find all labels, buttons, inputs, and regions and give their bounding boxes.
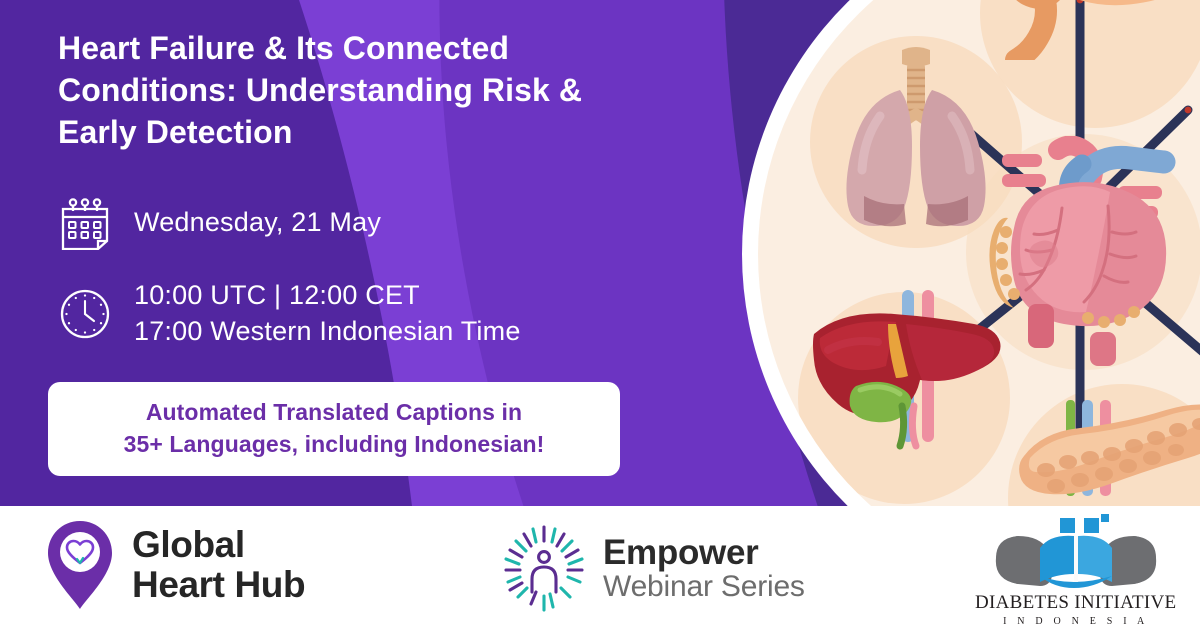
- ghh-line-1: Global: [132, 525, 305, 565]
- ghh-wordmark: Global Heart Hub: [132, 525, 305, 604]
- logo-empower-webinar-series: Empower Webinar Series: [498, 524, 805, 614]
- time-line-2: 17:00 Western Indonesian Time: [134, 314, 521, 350]
- dii-monogram-icon: [988, 512, 1164, 590]
- empower-wordmark: Empower Webinar Series: [603, 535, 805, 604]
- heart-illustration: [966, 136, 1200, 368]
- calendar-icon: [58, 196, 112, 250]
- empower-line-1: Empower: [603, 535, 805, 571]
- dii-line-2: I N D O N E S I A: [1003, 616, 1148, 627]
- pancreas-illustration: [1010, 400, 1200, 506]
- organ-illustration-panel: [758, 0, 1200, 506]
- captions-line-1: Automated Translated Captions in: [48, 397, 620, 429]
- time-text-block: 10:00 UTC | 12:00 CET 17:00 Western Indo…: [134, 278, 521, 350]
- sunburst-person-icon: [498, 524, 590, 614]
- date-text: Wednesday, 21 May: [134, 205, 381, 241]
- time-line-1: 10:00 UTC | 12:00 CET: [134, 278, 521, 314]
- date-row: Wednesday, 21 May: [58, 196, 381, 250]
- ghh-line-2: Heart Hub: [132, 565, 305, 605]
- webinar-promo-poster: Heart Failure & Its Connected Conditions…: [0, 0, 1200, 628]
- hero-background: Heart Failure & Its Connected Conditions…: [0, 0, 1200, 506]
- brain-illustration: [982, 0, 1200, 60]
- captions-banner: Automated Translated Captions in 35+ Lan…: [48, 382, 620, 476]
- time-row: 10:00 UTC | 12:00 CET 17:00 Western Indo…: [58, 278, 521, 350]
- dii-line-1: DIABETES INITIATIVE: [975, 592, 1176, 614]
- logo-global-heart-hub: Global Heart Hub: [44, 519, 305, 611]
- empower-line-2: Webinar Series: [603, 570, 805, 603]
- page-title: Heart Failure & Its Connected Conditions…: [58, 28, 658, 154]
- map-pin-heart-icon: [44, 519, 116, 611]
- captions-line-2: 35+ Languages, including Indonesian!: [48, 429, 620, 461]
- logo-diabetes-initiative-indonesia: DIABETES INITIATIVE I N D O N E S I A: [975, 512, 1176, 627]
- clock-icon: [58, 287, 112, 341]
